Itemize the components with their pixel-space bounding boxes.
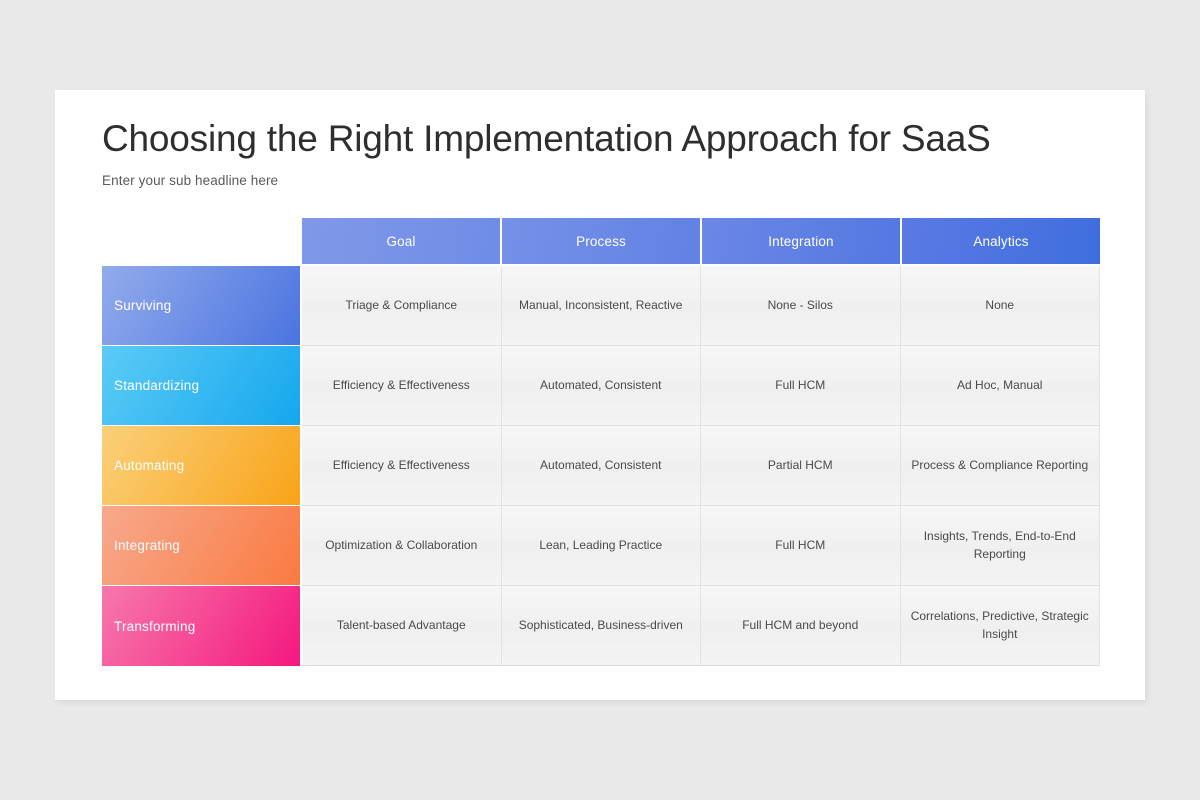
column-header-goal: Goal bbox=[302, 218, 500, 264]
table-row: Transforming Talent-based Advantage Soph… bbox=[102, 586, 1100, 666]
cell-integrating-goal: Optimization & Collaboration bbox=[302, 506, 502, 586]
table-header-row: Goal Process Integration Analytics bbox=[302, 218, 1100, 264]
cell-standardizing-process: Automated, Consistent bbox=[502, 346, 702, 426]
cell-standardizing-analytics: Ad Hoc, Manual bbox=[901, 346, 1101, 426]
table-row: Standardizing Efficiency & Effectiveness… bbox=[102, 346, 1100, 426]
cell-automating-analytics: Process & Compliance Reporting bbox=[901, 426, 1101, 506]
cell-surviving-analytics: None bbox=[901, 266, 1101, 346]
cell-automating-goal: Efficiency & Effectiveness bbox=[302, 426, 502, 506]
maturity-matrix-table: Goal Process Integration Analytics Survi… bbox=[102, 218, 1100, 666]
page-subtitle: Enter your sub headline here bbox=[102, 173, 1112, 188]
table-body: Surviving Triage & Compliance Manual, In… bbox=[102, 266, 1100, 666]
cell-automating-integration: Partial HCM bbox=[701, 426, 901, 506]
cell-transforming-goal: Talent-based Advantage bbox=[302, 586, 502, 666]
cell-integrating-process: Lean, Leading Practice bbox=[502, 506, 702, 586]
row-cells: Efficiency & Effectiveness Automated, Co… bbox=[302, 346, 1100, 426]
row-header-integrating: Integrating bbox=[102, 506, 300, 586]
cell-surviving-process: Manual, Inconsistent, Reactive bbox=[502, 266, 702, 346]
cell-standardizing-goal: Efficiency & Effectiveness bbox=[302, 346, 502, 426]
row-header-surviving: Surviving bbox=[102, 266, 300, 346]
headline-block: Choosing the Right Implementation Approa… bbox=[102, 118, 1112, 188]
cell-surviving-integration: None - Silos bbox=[701, 266, 901, 346]
cell-surviving-goal: Triage & Compliance bbox=[302, 266, 502, 346]
row-cells: Triage & Compliance Manual, Inconsistent… bbox=[302, 266, 1100, 346]
row-header-standardizing: Standardizing bbox=[102, 346, 300, 426]
row-cells: Talent-based Advantage Sophisticated, Bu… bbox=[302, 586, 1100, 666]
slide-canvas: Choosing the Right Implementation Approa… bbox=[0, 0, 1200, 800]
cell-integrating-analytics: Insights, Trends, End-to-End Reporting bbox=[901, 506, 1101, 586]
column-header-integration: Integration bbox=[702, 218, 900, 264]
row-header-transforming: Transforming bbox=[102, 586, 300, 666]
table-row: Automating Efficiency & Effectiveness Au… bbox=[102, 426, 1100, 506]
page-title: Choosing the Right Implementation Approa… bbox=[102, 118, 1112, 161]
table-row: Surviving Triage & Compliance Manual, In… bbox=[102, 266, 1100, 346]
cell-transforming-analytics: Correlations, Predictive, Strategic Insi… bbox=[901, 586, 1101, 666]
row-cells: Optimization & Collaboration Lean, Leadi… bbox=[302, 506, 1100, 586]
table-row: Integrating Optimization & Collaboration… bbox=[102, 506, 1100, 586]
cell-transforming-integration: Full HCM and beyond bbox=[701, 586, 901, 666]
cell-integrating-integration: Full HCM bbox=[701, 506, 901, 586]
cell-standardizing-integration: Full HCM bbox=[701, 346, 901, 426]
column-header-analytics: Analytics bbox=[902, 218, 1100, 264]
row-cells: Efficiency & Effectiveness Automated, Co… bbox=[302, 426, 1100, 506]
cell-automating-process: Automated, Consistent bbox=[502, 426, 702, 506]
row-header-automating: Automating bbox=[102, 426, 300, 506]
slide-card: Choosing the Right Implementation Approa… bbox=[55, 90, 1145, 700]
column-header-process: Process bbox=[502, 218, 700, 264]
cell-transforming-process: Sophisticated, Business-driven bbox=[502, 586, 702, 666]
